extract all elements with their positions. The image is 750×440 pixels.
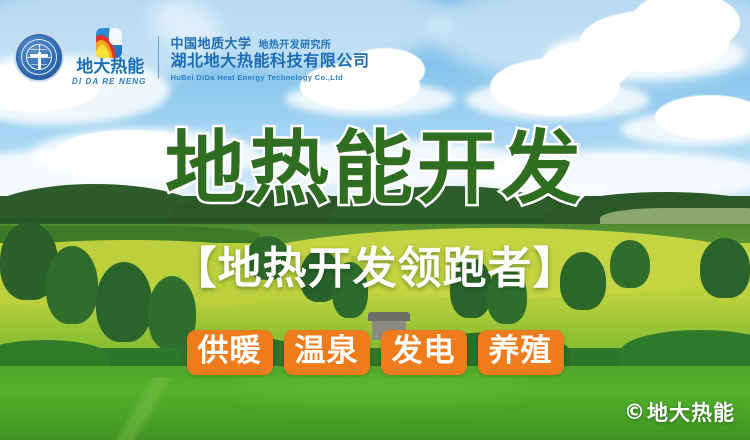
- company-name-cn: 湖北地大热能科技有限公司: [170, 52, 369, 72]
- meadow-highlight: [230, 372, 530, 402]
- rainbow-square-logo-icon: [96, 28, 122, 58]
- service-tag-power[interactable]: 发电: [381, 330, 467, 375]
- farm-house-roof: [368, 312, 410, 321]
- header-logo-bar: 地大热能 DI DA RE NENG 中国地质大学 地热开发研究所 湖北地大热能…: [14, 28, 370, 86]
- university-seal-icon: [14, 32, 64, 82]
- copyright-icon: ©: [624, 400, 646, 424]
- page-subtitle: 【地热开发领跑者】: [0, 247, 750, 291]
- page-title: 地热能开发: [0, 129, 750, 209]
- geothermal-promo-banner: 地大热能 DI DA RE NENG 中国地质大学 地热开发研究所 湖北地大热能…: [0, 0, 750, 440]
- institute-name: 地热开发研究所: [258, 36, 331, 51]
- service-tag-list: 供暖 温泉 发电 养殖: [0, 330, 750, 375]
- copyright-text: 地大热能: [647, 397, 735, 427]
- service-tag-hot-spring[interactable]: 温泉: [284, 330, 370, 375]
- university-name: 中国地质大学: [170, 33, 251, 52]
- brand-name-cn: 地大热能: [76, 58, 144, 75]
- logo-divider: [158, 36, 159, 78]
- brand-logo: 地大热能 DI DA RE NENG: [72, 28, 146, 86]
- service-tag-aquaculture[interactable]: 养殖: [478, 330, 564, 375]
- company-text-block: 中国地质大学 地热开发研究所 湖北地大热能科技有限公司 HuBei DiDa H…: [170, 33, 369, 82]
- copyright-watermark: © 地大热能: [624, 397, 735, 427]
- brand-name-en: DI DA RE NENG: [72, 77, 146, 86]
- service-tag-heating[interactable]: 供暖: [187, 330, 273, 375]
- company-name-en: HuBei DiDa Heat Energy Technology Co.,Lt…: [170, 73, 369, 82]
- meadow-path: [90, 378, 200, 440]
